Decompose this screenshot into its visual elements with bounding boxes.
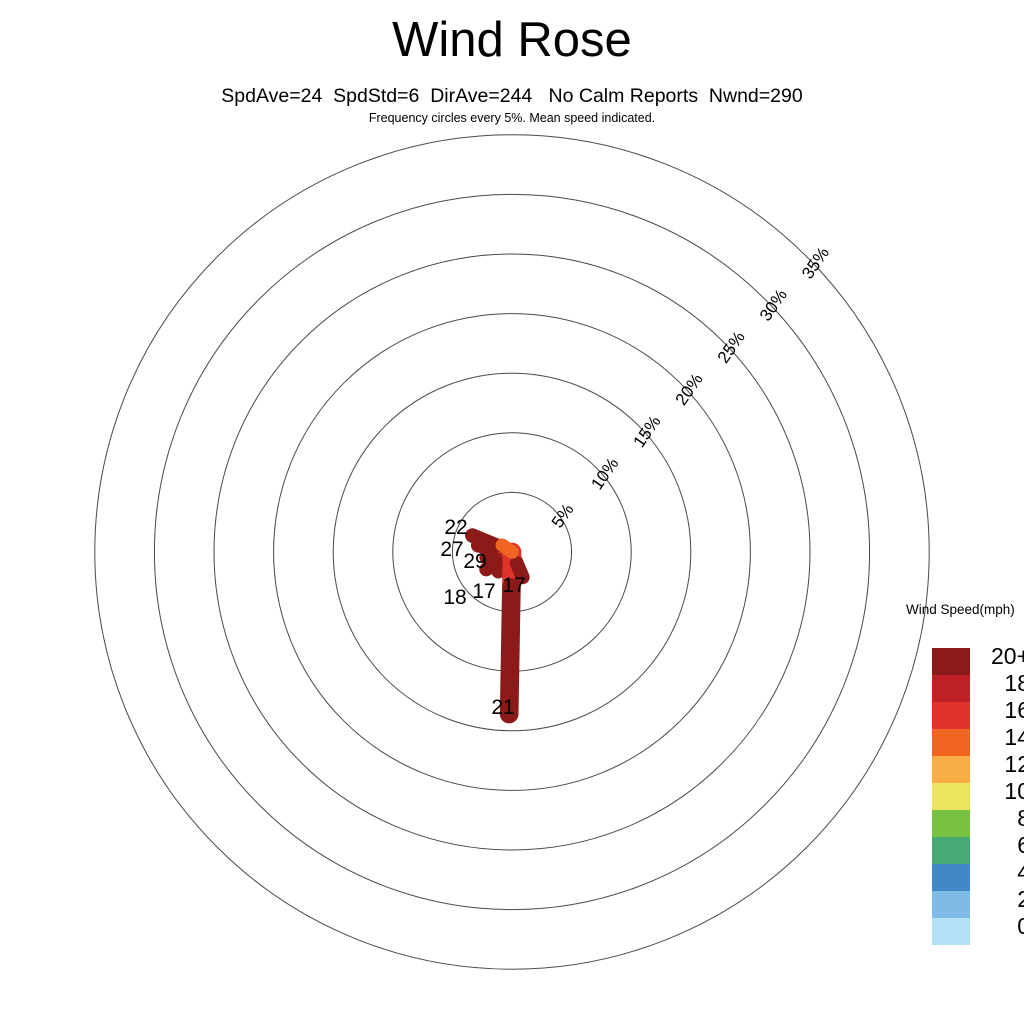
legend-swatch-18 [932, 675, 970, 702]
legend-title: Wind Speed(mph) [906, 602, 1015, 617]
legend-swatch-12 [932, 756, 970, 783]
petal-label-petal-wnw: 22 [444, 516, 467, 539]
wind-rose-page: Wind Rose SpdAve=24 SpdStd=6 DirAve=244 … [0, 0, 1024, 1024]
petal-segment-14 [502, 545, 512, 552]
legend-label-12: 12 [974, 751, 1024, 778]
ring-label: 30% [756, 286, 791, 325]
petal-label-petal-south-long: 21 [491, 696, 514, 719]
legend-label-20+: 20+ [974, 643, 1024, 670]
legend-swatch-10 [932, 783, 970, 810]
legend-swatch-8 [932, 810, 970, 837]
petal-label-petal-sse: 17 [502, 574, 525, 597]
legend-label-14: 14 [974, 724, 1024, 751]
legend-swatch-2 [932, 891, 970, 918]
ring-label: 15% [629, 412, 664, 451]
legend-swatch-16 [932, 702, 970, 729]
petal-label-petal-sw: 18 [443, 586, 466, 609]
legend-label-10: 10 [974, 778, 1024, 805]
ring-label: 20% [672, 370, 707, 409]
petal-center-warm [502, 545, 512, 552]
petal-label-petal-ssw: 17 [472, 580, 495, 603]
legend-swatch-0 [932, 918, 970, 945]
legend-label-16: 16 [974, 697, 1024, 724]
petal-label-petal-wsw-upper: 27 [440, 538, 463, 561]
legend-label-8: 8 [974, 805, 1024, 832]
legend-swatch-6 [932, 837, 970, 864]
legend-swatch-4 [932, 864, 970, 891]
ring-label: 25% [714, 328, 749, 367]
ring-label: 35% [798, 244, 833, 283]
petal-label-petal-wsw-lower: 29 [463, 550, 486, 573]
ring-label: 5% [548, 500, 578, 531]
ring-percent-labels: 5%10%15%20%25%30%35% [548, 244, 833, 532]
wind-rose-plot: 5%10%15%20%25%30%35% 22272918172117 [0, 0, 1024, 1024]
ring-label: 10% [587, 454, 622, 493]
legend-label-0: 0 [974, 913, 1024, 940]
legend-label-4: 4 [974, 859, 1024, 886]
legend-colorbar [932, 648, 970, 945]
legend-swatch-14 [932, 729, 970, 756]
legend-label-18: 18 [974, 670, 1024, 697]
legend-label-2: 2 [974, 886, 1024, 913]
legend-label-6: 6 [974, 832, 1024, 859]
legend-swatch-20+ [932, 648, 970, 675]
